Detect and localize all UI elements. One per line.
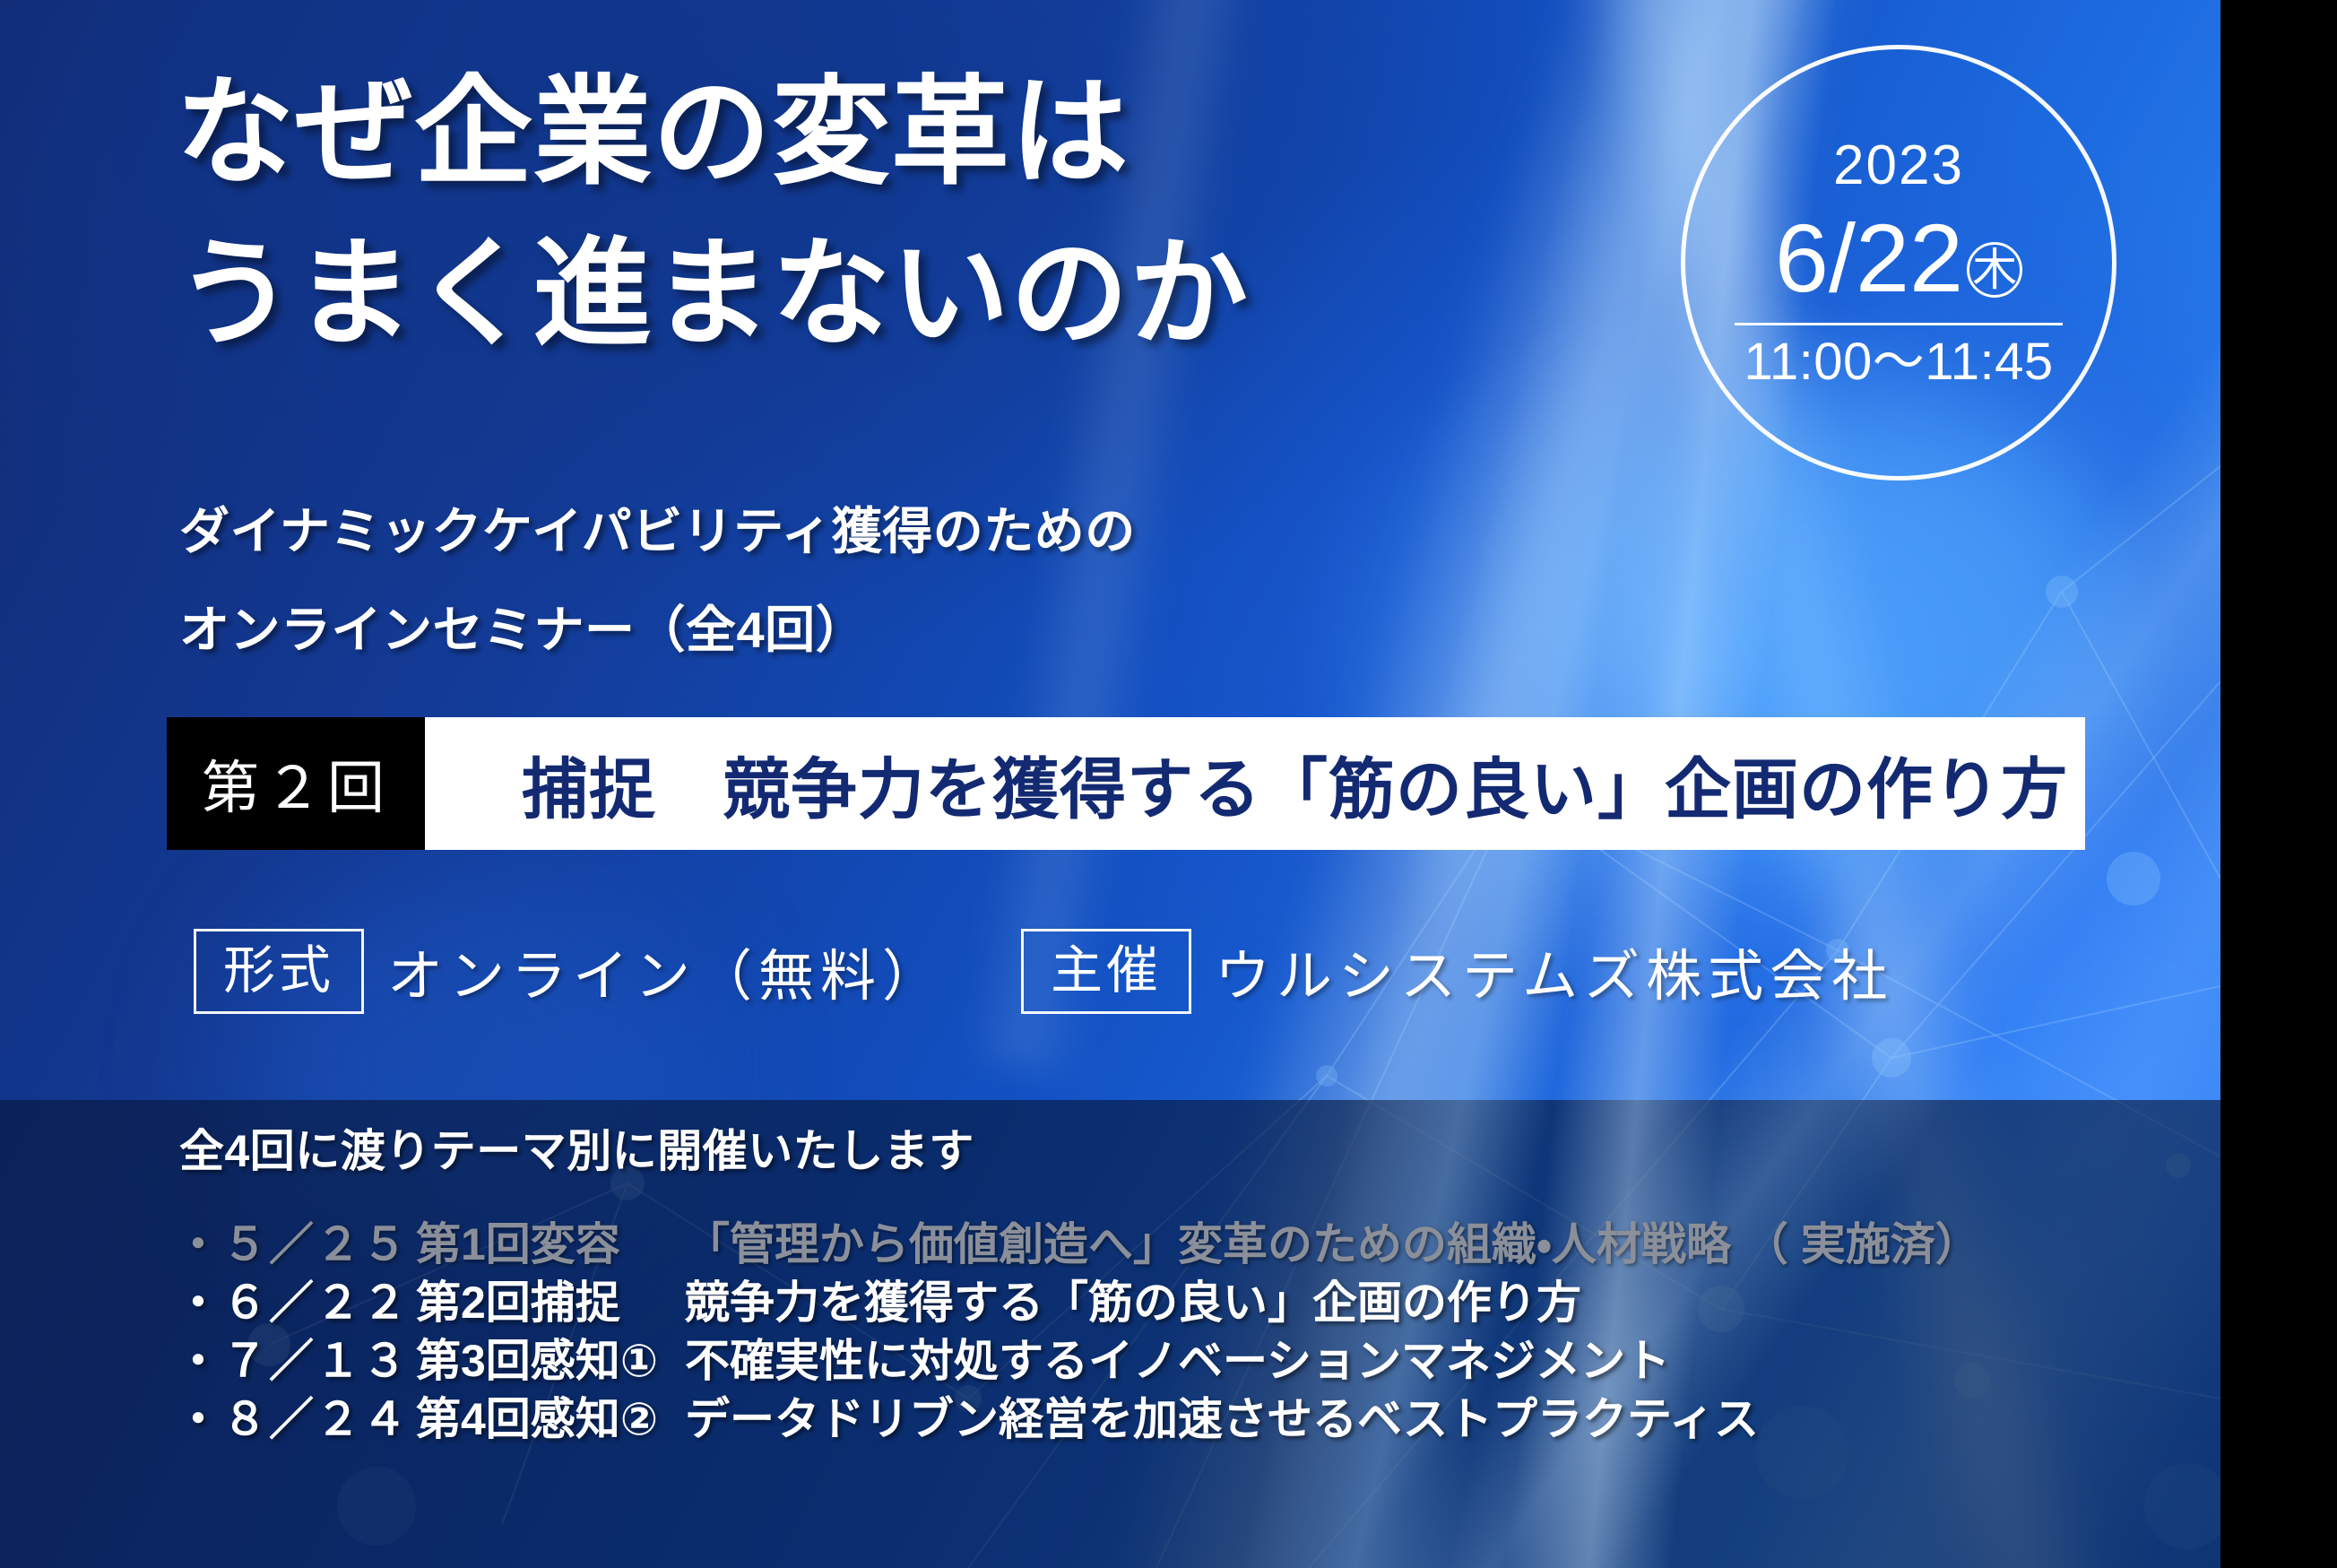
schedule-date: ・６／２２: [176, 1274, 416, 1332]
schedule-description: 「管理から価値創造へ」変革のための組織・人材戦略 （ 実施済）: [685, 1216, 1980, 1274]
subtitle-line-1: ダイナミックケイパビリティ獲得のための: [179, 491, 1136, 564]
date-time-range: 11:00〜11:45: [1744, 336, 2053, 388]
session-title: 捕捉 競争力を獲得する「筋の良い」企画の作り方: [425, 717, 2085, 850]
schedule-description: データドリブン経営を加速させるベストプラクティス: [685, 1390, 1759, 1449]
schedule-description: 競争力を獲得する「筋の良い」企画の作り方: [685, 1274, 1581, 1332]
right-black-bar: [2220, 0, 2337, 1568]
date-year: 2023: [1833, 138, 1964, 194]
date-month-day: 6/22: [1775, 210, 1963, 307]
schedule-session: 第3回感知①: [416, 1332, 685, 1390]
schedule-session: 第1回変容: [416, 1216, 685, 1274]
schedule-heading: 全4回に渡りテーマ別に開催いたします: [179, 1115, 974, 1180]
schedule-session: 第2回捕捉: [416, 1274, 685, 1332]
headline-line-2: うまく進まないのか: [176, 213, 1249, 375]
schedule-date: ・８／２４: [176, 1390, 416, 1449]
day-of-week-icon: 木: [1967, 242, 2022, 298]
schedule-description: 不確実性に対処するイノベーションマネジメント: [685, 1332, 1670, 1390]
host-label: 主催: [1021, 929, 1191, 1014]
meta-row: 形式 オンライン（無料） 主催 ウルシステムズ株式会社: [194, 929, 1893, 1014]
headline-line-1: なぜ企業の変革は: [176, 52, 1249, 213]
schedule-list: ・５／２５ 第1回変容 「管理から価値創造へ」変革のための組織・人材戦略 （ 実…: [176, 1216, 1980, 1449]
schedule-row: ・５／２５ 第1回変容 「管理から価値創造へ」変革のための組織・人材戦略 （ 実…: [176, 1216, 1980, 1274]
date-main-row: 6/22 木: [1775, 210, 2022, 307]
seminar-poster: なぜ企業の変革は うまく進まないのか ダイナミックケイパビリティ獲得のための オ…: [0, 0, 2337, 1568]
schedule-date: ・７／１３: [176, 1332, 416, 1390]
format-label: 形式: [194, 929, 364, 1014]
session-number-badge: 第２回: [167, 717, 425, 850]
date-divider: [1735, 323, 2063, 325]
session-banner: 第２回 捕捉 競争力を獲得する「筋の良い」企画の作り方: [167, 717, 2085, 850]
schedule-date: ・５／２５: [176, 1216, 416, 1274]
schedule-row: ・７／１３ 第3回感知① 不確実性に対処するイノベーションマネジメント: [176, 1332, 1980, 1390]
schedule-row: ・６／２２ 第2回捕捉 競争力を獲得する「筋の良い」企画の作り方: [176, 1274, 1980, 1332]
host-value: ウルシステムズ株式会社: [1215, 931, 1893, 1011]
format-value: オンライン（無料）: [387, 931, 944, 1011]
schedule-row: ・８／２４ 第4回感知② データドリブン経営を加速させるベストプラクティス: [176, 1390, 1980, 1449]
date-badge: 2023 6/22 木 11:00〜11:45: [1681, 45, 2116, 481]
subtitle-line-2: オンラインセミナー（全4回）: [179, 590, 866, 663]
schedule-session: 第4回感知②: [416, 1390, 685, 1449]
page-title: なぜ企業の変革は うまく進まないのか: [176, 52, 1249, 374]
